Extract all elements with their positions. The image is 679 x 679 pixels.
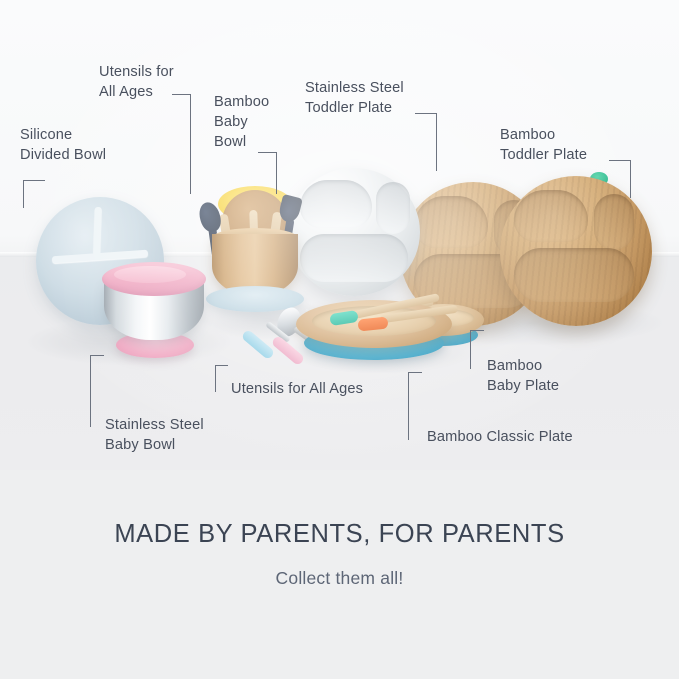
callout-bamboo-baby-bowl: Bamboo Baby Bowl	[214, 92, 304, 152]
leader-utensils-top-horizontal	[172, 94, 191, 95]
product-stainless-steel-toddler-plate	[288, 168, 420, 296]
leader-stainless-steel-baby-bowl	[90, 355, 104, 427]
leader-bamboo-toddler-vertical	[630, 160, 631, 198]
infographic-page: Silicone Divided Bowl Utensils for All A…	[0, 0, 679, 679]
leader-silicone-divided-bowl	[23, 180, 45, 208]
callout-stainless-steel-baby-bowl: Stainless Steel Baby Bowl	[105, 415, 275, 455]
bamboo-toddler-well-1	[514, 190, 588, 242]
leader-utensils-for-all-ages-bottom	[215, 365, 228, 392]
leader-bamboo-baby-plate	[470, 330, 484, 369]
callout-utensils-for-all-ages-top: Utensils for All Ages	[99, 62, 219, 102]
bamboo-toddler-well-2	[594, 194, 634, 250]
leader-utensils-top-vertical	[190, 94, 191, 194]
stainless-toddler-well-2	[376, 182, 410, 234]
leader-bamboo-classic-plate	[408, 372, 422, 440]
steel-spoon-handle-blue	[241, 329, 276, 361]
stainless-toddler-well-1	[300, 180, 372, 228]
leader-stainless-toddler-horizontal	[415, 113, 437, 114]
stainless-toddler-well-3	[300, 234, 408, 282]
callout-stainless-steel-toddler-plate: Stainless Steel Toddler Plate	[305, 78, 465, 118]
product-bamboo-baby-bowl	[206, 186, 304, 316]
footer-headline: MADE BY PARENTS, FOR PARENTS	[114, 520, 564, 549]
bamboo-toddler-well-1	[414, 196, 488, 248]
callout-bamboo-baby-plate: Bamboo Baby Plate	[487, 356, 637, 396]
footer-subhead: Collect them all!	[276, 568, 404, 589]
stainless-baby-bowl-lid-top	[114, 266, 186, 283]
leader-bamboo-baby-bowl-vertical	[276, 152, 277, 194]
callout-silicone-divided-bowl: Silicone Divided Bowl	[20, 125, 195, 165]
callout-bamboo-classic-plate: Bamboo Classic Plate	[427, 427, 657, 447]
callout-bamboo-toddler-plate: Bamboo Toddler Plate	[500, 125, 660, 165]
bamboo-toddler-well-3	[514, 248, 634, 302]
leader-stainless-toddler-vertical	[436, 113, 437, 171]
footer-band: MADE BY PARENTS, FOR PARENTS Collect the…	[0, 470, 679, 679]
leader-bamboo-baby-bowl-horizontal	[258, 152, 277, 153]
product-scene: Silicone Divided Bowl Utensils for All A…	[0, 0, 679, 470]
leader-bamboo-toddler-horizontal	[609, 160, 631, 161]
product-bamboo-toddler-plate-front	[500, 176, 652, 326]
product-bamboo-classic-plate	[296, 300, 452, 362]
product-stainless-steel-baby-bowl	[96, 262, 212, 360]
